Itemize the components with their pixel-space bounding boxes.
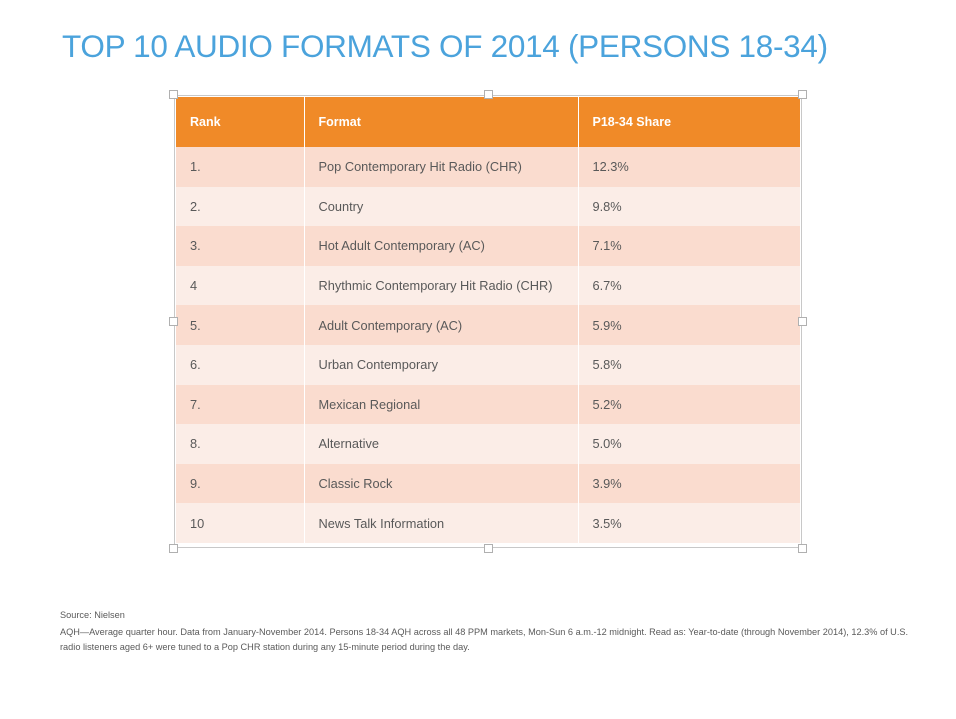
resize-handle-bottom-center[interactable]: [484, 544, 493, 553]
cell-share: 5.0%: [578, 424, 800, 464]
audio-formats-table[interactable]: Rank Format P18-34 Share 1. Pop Contempo…: [176, 97, 800, 543]
cell-share: 5.8%: [578, 345, 800, 385]
cell-rank: 1.: [176, 147, 304, 187]
resize-handle-bottom-left[interactable]: [169, 544, 178, 553]
resize-handle-middle-right[interactable]: [798, 317, 807, 326]
table-row[interactable]: 6. Urban Contemporary 5.8%: [176, 345, 800, 385]
table-row[interactable]: 5. Adult Contemporary (AC) 5.9%: [176, 305, 800, 345]
cell-share: 3.5%: [578, 503, 800, 543]
cell-rank: 7.: [176, 385, 304, 425]
footnote-source: Source: Nielsen: [60, 608, 916, 623]
table-row[interactable]: 8. Alternative 5.0%: [176, 424, 800, 464]
column-header-share[interactable]: P18-34 Share: [578, 97, 800, 147]
cell-rank: 6.: [176, 345, 304, 385]
cell-format: Classic Rock: [304, 464, 578, 504]
table-header-row: Rank Format P18-34 Share: [176, 97, 800, 147]
cell-share: 5.9%: [578, 305, 800, 345]
column-header-format[interactable]: Format: [304, 97, 578, 147]
table-body: 1. Pop Contemporary Hit Radio (CHR) 12.3…: [176, 147, 800, 543]
page-title: TOP 10 AUDIO FORMATS OF 2014 (PERSONS 18…: [62, 28, 922, 66]
slide-canvas: TOP 10 AUDIO FORMATS OF 2014 (PERSONS 18…: [0, 0, 956, 719]
table-row[interactable]: 7. Mexican Regional 5.2%: [176, 385, 800, 425]
footnote: Source: Nielsen AQH—Average quarter hour…: [60, 608, 916, 655]
cell-format: Mexican Regional: [304, 385, 578, 425]
cell-share: 12.3%: [578, 147, 800, 187]
footnote-note: AQH—Average quarter hour. Data from Janu…: [60, 625, 916, 655]
cell-rank: 2.: [176, 187, 304, 227]
table-row[interactable]: 10 News Talk Information 3.5%: [176, 503, 800, 543]
cell-rank: 5.: [176, 305, 304, 345]
table-row[interactable]: 3. Hot Adult Contemporary (AC) 7.1%: [176, 226, 800, 266]
resize-handle-top-left[interactable]: [169, 90, 178, 99]
cell-share: 3.9%: [578, 464, 800, 504]
cell-share: 9.8%: [578, 187, 800, 227]
cell-rank: 3.: [176, 226, 304, 266]
cell-format: Urban Contemporary: [304, 345, 578, 385]
cell-format: Pop Contemporary Hit Radio (CHR): [304, 147, 578, 187]
cell-share: 6.7%: [578, 266, 800, 306]
table-selection-frame[interactable]: Rank Format P18-34 Share 1. Pop Contempo…: [174, 95, 802, 548]
table-header: Rank Format P18-34 Share: [176, 97, 800, 147]
resize-handle-top-right[interactable]: [798, 90, 807, 99]
cell-format: Hot Adult Contemporary (AC): [304, 226, 578, 266]
table-row[interactable]: 9. Classic Rock 3.9%: [176, 464, 800, 504]
cell-share: 5.2%: [578, 385, 800, 425]
cell-format: Adult Contemporary (AC): [304, 305, 578, 345]
resize-handle-top-center[interactable]: [484, 90, 493, 99]
cell-format: Country: [304, 187, 578, 227]
resize-handle-bottom-right[interactable]: [798, 544, 807, 553]
column-header-rank[interactable]: Rank: [176, 97, 304, 147]
cell-format: Rhythmic Contemporary Hit Radio (CHR): [304, 266, 578, 306]
cell-share: 7.1%: [578, 226, 800, 266]
table-row[interactable]: 4 Rhythmic Contemporary Hit Radio (CHR) …: [176, 266, 800, 306]
cell-format: News Talk Information: [304, 503, 578, 543]
cell-rank: 4: [176, 266, 304, 306]
resize-handle-middle-left[interactable]: [169, 317, 178, 326]
cell-format: Alternative: [304, 424, 578, 464]
table-row[interactable]: 2. Country 9.8%: [176, 187, 800, 227]
table-row[interactable]: 1. Pop Contemporary Hit Radio (CHR) 12.3…: [176, 147, 800, 187]
cell-rank: 10: [176, 503, 304, 543]
cell-rank: 8.: [176, 424, 304, 464]
cell-rank: 9.: [176, 464, 304, 504]
